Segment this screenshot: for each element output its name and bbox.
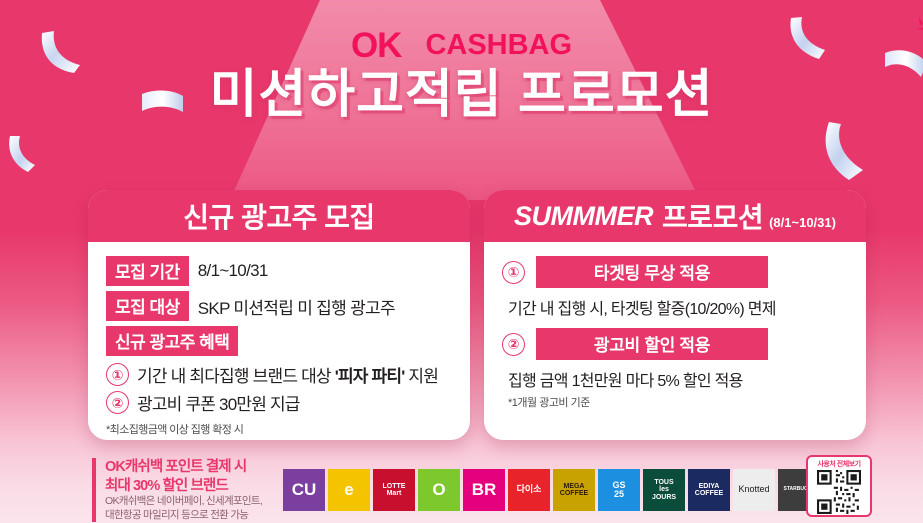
brand-logo-daiso[interactable]: 다이소 xyxy=(508,469,550,511)
number-circle-1-right: ① xyxy=(502,261,525,284)
card-right-header: SUMMMER 프로모션 (8/1~10/31) xyxy=(484,190,866,242)
footer-line-3: OK캐쉬백은 네이버페이, 신세계포인트, xyxy=(105,495,262,509)
brand-logo-mega-coffee[interactable]: MEGA COFFEE xyxy=(553,469,595,511)
brand-logo-label: MEGA COFFEE xyxy=(560,483,588,498)
number-circle-2: ② xyxy=(106,391,129,414)
chip-new-advertiser-benefit: 신규 광고주 혜택 xyxy=(106,326,238,356)
brand-logo-oliveyoung[interactable]: O xyxy=(418,469,460,511)
brand-logo-gs25[interactable]: GS 25 xyxy=(598,469,640,511)
chip-targeting-free: 타겟팅 무상 적용 xyxy=(536,256,768,288)
brand-logo-label: TOUS les JOURS xyxy=(652,479,676,501)
benefit-item-1: ① 기간 내 최다집행 브랜드 대상 '피자 파티' 지원 xyxy=(106,362,454,387)
benefit-1-post: 지원 xyxy=(404,367,438,386)
brand-logo-strip: CUeLOTTE MartOBR다이소MEGA COFFEEGS 25TOUS … xyxy=(283,469,820,511)
promo-desc-1: 기간 내 집행 시, 타겟팅 할증(10/20%) 면제 xyxy=(502,295,850,319)
card-left-header: 신규 광고주 모집 xyxy=(88,190,470,242)
brand-logo-label: BR xyxy=(472,481,497,499)
brand-logo-label: e xyxy=(344,481,353,499)
qr-label: 사용처 전체보기 xyxy=(817,459,860,469)
card-summer-promotion: SUMMMER 프로모션 (8/1~10/31) ① 타겟팅 무상 적용 기간 … xyxy=(484,190,866,440)
brand-logo-lotte-mart[interactable]: LOTTE Mart xyxy=(373,469,415,511)
info-row-period: 모집 기간 8/1~10/31 xyxy=(106,256,454,286)
footer-line-4: 대한항공 마일리지 등으로 전환 가능 xyxy=(105,509,262,523)
benefit-text-1: 기간 내 최다집행 브랜드 대상 '피자 파티' 지원 xyxy=(137,362,438,387)
footer-note: OK캐쉬백 포인트 결제 시 최대 30% 할인 브랜드 OK캐쉬백은 네이버페… xyxy=(92,458,262,522)
brand-logo-label: GS 25 xyxy=(612,481,625,500)
card-left-title: 신규 광고주 모집 xyxy=(183,196,374,236)
brand-logo-label: CU xyxy=(292,481,317,499)
chip-ad-discount: 광고비 할인 적용 xyxy=(536,328,768,360)
brand-logo-label: O xyxy=(432,481,445,499)
confetti-ribbon-3 xyxy=(4,134,44,176)
promo-block-2: ② 광고비 할인 적용 집행 금액 1천만원 마다 5% 할인 적용 *1개월 … xyxy=(502,328,850,410)
number-circle-2-right: ② xyxy=(502,333,525,356)
brand-logo-emart[interactable]: e xyxy=(328,469,370,511)
card-right-title-en: SUMMMER xyxy=(514,201,653,232)
promo-head-2: ② 광고비 할인 적용 xyxy=(502,328,850,360)
logo-ok-text: OK xyxy=(351,28,402,63)
card-right-body: ① 타겟팅 무상 적용 기간 내 집행 시, 타겟팅 할증(10/20%) 면제… xyxy=(484,242,866,410)
brand-logo-ediya-coffee[interactable]: EDIYA COFFEE xyxy=(688,469,730,511)
qr-code-box[interactable]: 사용처 전체보기 xyxy=(806,455,872,517)
qr-code-icon[interactable] xyxy=(816,470,862,514)
sparkle-icon xyxy=(914,15,923,39)
card-left-body: 모집 기간 8/1~10/31 모집 대상 SKP 미션적립 미 집행 광고주 … xyxy=(88,242,470,437)
info-row-target: 모집 대상 SKP 미션적립 미 집행 광고주 xyxy=(106,291,454,321)
benefit-text-2: 광고비 쿠폰 30만원 지급 xyxy=(137,390,300,415)
benefit-1-pre: 기간 내 최다집행 브랜드 대상 xyxy=(137,367,335,386)
brand-logo-knotted[interactable]: Knotted xyxy=(733,469,775,511)
benefit-item-2: ② 광고비 쿠폰 30만원 지급 xyxy=(106,390,454,415)
brand-logo-tous-les-jours[interactable]: TOUS les JOURS xyxy=(643,469,685,511)
promo-head-1: ① 타겟팅 무상 적용 xyxy=(502,256,850,288)
promo-block-1: ① 타겟팅 무상 적용 기간 내 집행 시, 타겟팅 할증(10/20%) 면제 xyxy=(502,256,850,319)
value-recruit-period: 8/1~10/31 xyxy=(198,261,268,281)
card-right-title-ko: 프로모션 xyxy=(662,196,763,236)
brand-logo-label: EDIYA COFFEE xyxy=(695,483,723,498)
brand-logo-label: 다이소 xyxy=(517,485,542,494)
number-circle-1: ① xyxy=(106,363,129,386)
card-new-advertiser: 신규 광고주 모집 모집 기간 8/1~10/31 모집 대상 SKP 미션적립… xyxy=(88,190,470,440)
brand-logo-CU[interactable]: CU xyxy=(283,469,325,511)
promo-foot-2: *1개월 광고비 기준 xyxy=(502,394,850,410)
logo-cashbag-text: CASHBAG xyxy=(425,31,572,60)
okcashbag-logo: OK CASHBAG xyxy=(0,28,923,63)
footer-line-2: 최대 30% 할인 브랜드 xyxy=(105,477,262,496)
card-right-period: (8/1~10/31) xyxy=(769,215,836,230)
promo-desc-2: 집행 금액 1천만원 마다 5% 할인 적용 xyxy=(502,367,850,391)
chip-recruit-target: 모집 대상 xyxy=(106,291,189,321)
card-left-footnote: *최소집행금액 이상 집행 확정 시 xyxy=(106,421,454,437)
brand-logo-label: LOTTE Mart xyxy=(383,483,406,498)
benefit-1-bold: '피자 파티' xyxy=(335,367,405,386)
page-title: 미션하고적립 프로모션 xyxy=(0,66,923,126)
footer-line-1: OK캐쉬백 포인트 결제 시 xyxy=(105,458,262,477)
brand-logo-label: Knotted xyxy=(738,485,769,494)
benefit-chip-wrap: 신규 광고주 혜택 xyxy=(106,326,454,356)
chip-recruit-period: 모집 기간 xyxy=(106,256,189,286)
confetti-ribbon-6 xyxy=(815,120,877,186)
value-recruit-target: SKP 미션적립 미 집행 광고주 xyxy=(198,294,395,319)
promotion-banner: OK CASHBAG 미션하고적립 프로모션 신규 광고주 모집 모집 기간 8… xyxy=(0,0,923,523)
brand-logo-baskin-robbins[interactable]: BR xyxy=(463,469,505,511)
